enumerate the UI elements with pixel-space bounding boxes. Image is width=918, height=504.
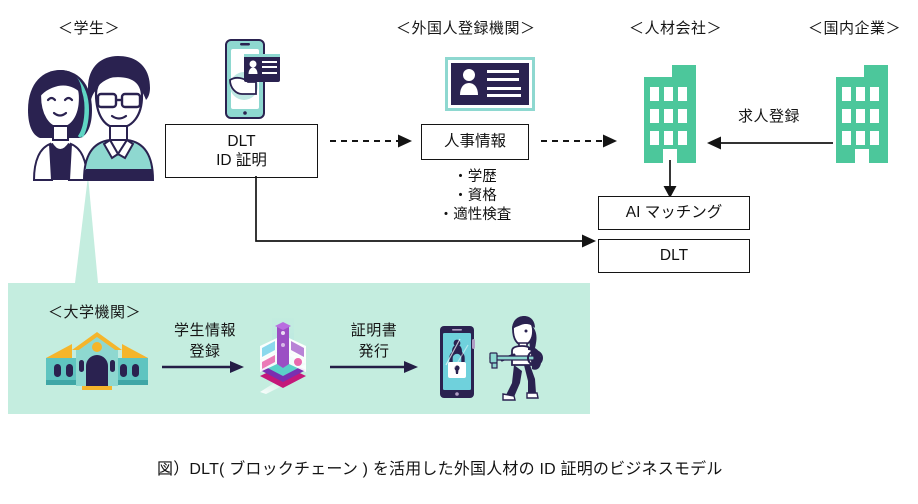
actor-label-student: ＜学生＞ [58, 17, 120, 38]
arrow-university-to-blockchain [162, 360, 248, 374]
elbow-arrow-dlt-id-to-dlt [240, 176, 610, 256]
box-ai-matching-label: AI マッチング [626, 203, 722, 222]
dashed-arrow-hr-to-staffing [541, 133, 629, 153]
dashed-arrow-dlt-to-hr [330, 133, 418, 153]
arrow-label-certificate-issue: 証明書 発行 [328, 319, 420, 361]
arrow-label-job-posting: 求人登録 [738, 105, 800, 126]
university-building-icon [42, 328, 152, 390]
arrow-label-student-info-line1: 学生情報 [159, 319, 251, 340]
actor-label-domestic-enterprise: ＜国内企業＞ [808, 17, 901, 38]
students-illustration [8, 48, 160, 180]
box-ai-matching[interactable]: AI マッチング [598, 196, 750, 230]
box-hr-info-label: 人事情報 [444, 132, 506, 151]
box-dlt[interactable]: DLT [598, 239, 750, 273]
box-dlt-id-line1: DLT [227, 132, 255, 151]
student-with-key-icon [490, 313, 550, 401]
id-card-icon [444, 56, 536, 112]
mint-funnel-connector [0, 170, 200, 290]
office-building-icon-enterprise [828, 55, 906, 163]
office-building-icon-staffing [636, 55, 714, 163]
box-hr-info[interactable]: 人事情報 [421, 124, 529, 160]
arrow-label-student-info-line2: 登録 [159, 340, 251, 361]
box-dlt-label: DLT [660, 246, 688, 265]
phone-id-card-icon [214, 38, 284, 122]
arrow-label-student-info-registration: 学生情報 登録 [159, 319, 251, 361]
arrow-blockchain-to-student [330, 360, 422, 374]
phone-lock-icon [438, 325, 478, 399]
box-dlt-id[interactable]: DLT ID 証明 [165, 124, 318, 178]
arrow-enterprise-to-staffing [705, 135, 835, 151]
actor-label-university: ＜大学機関＞ [48, 301, 141, 322]
actor-label-foreign-registry: ＜外国人登録機関＞ [396, 17, 536, 38]
figure-caption: 図）DLT( ブロックチェーン ) を活用した外国人材の ID 証明のビジネスモ… [157, 455, 723, 479]
diagram-canvas: ＜学生＞ ＜外国人登録機関＞ ＜人材会社＞ ＜国内企業＞ [0, 0, 918, 504]
arrow-label-certificate-line2: 発行 [328, 340, 420, 361]
blockchain-tower-icon [252, 318, 314, 394]
arrow-label-certificate-line1: 証明書 [328, 319, 420, 340]
actor-label-staffing-company: ＜人材会社＞ [629, 17, 722, 38]
arrow-staffing-to-ai-matching [660, 160, 680, 200]
box-dlt-id-line2: ID 証明 [216, 151, 267, 170]
